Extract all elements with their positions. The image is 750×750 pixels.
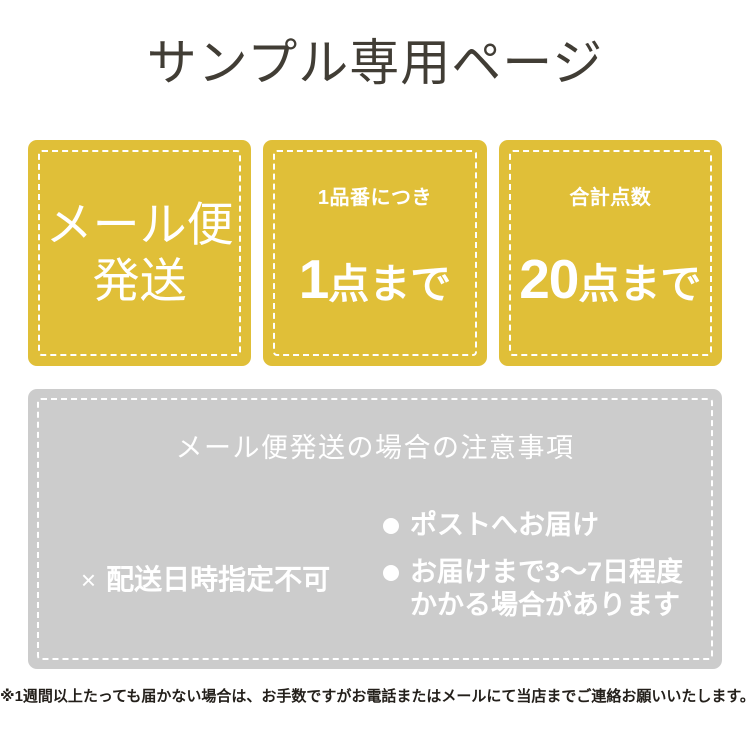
card-total-limit-content: 合計点数 20点まで [499,186,722,321]
card-total-limit-label: 合計点数 [499,186,722,210]
bullet-dot-icon [383,565,399,581]
card-mail-shipping-line1: メール便 [28,197,251,253]
no-delivery-date-note: ×配送日時指定不可 [81,563,330,597]
bullet-dot-icon [383,518,399,534]
card-total-limit: 合計点数 20点まで [499,140,722,366]
card-mail-shipping-content: メール便 発送 [28,197,251,309]
shipping-cards-row: メール便 発送 1品番につき 1点まで 合計点数 20点まで [28,140,722,366]
notice-bullet-0-line1: ポストへお届け [410,509,599,542]
notice-body: ×配送日時指定不可 ポストへお届け お届けまで3〜7日程度 かかる場合があります [28,505,722,655]
notice-bullet-1-line2: かかる場合があります [410,589,683,622]
footnote-text: ※1週間以上たっても届かない場合は、お手数ですがお電話またはメールにて当店までご… [0,686,750,708]
card-per-item-limit-value: 1点まで [263,252,486,321]
page-title: サンプル専用ページ [0,34,750,92]
cross-icon: × [81,565,96,595]
notice-heading: メール便発送の場合の注意事項 [28,431,722,465]
card-per-item-limit-content: 1品番につき 1点まで [263,186,486,321]
notice-left-column: ×配送日時指定不可 [28,505,383,655]
card-per-item-limit: 1品番につき 1点まで [263,140,486,366]
notice-bullet-1-line1: お届けまで3〜7日程度 [410,556,683,589]
card-mail-shipping-line2: 発送 [28,253,251,309]
sample-page: サンプル専用ページ メール便 発送 1品番につき 1点まで 合計点数 [0,0,750,750]
list-item: ポストへお届け [383,509,722,542]
card-total-limit-number: 20 [519,248,578,310]
card-per-item-limit-unit: 点まで [328,261,451,307]
no-delivery-date-label: 配送日時指定不可 [106,564,330,595]
notice-right-column: ポストへお届け お届けまで3〜7日程度 かかる場合があります [383,505,722,636]
card-per-item-limit-number: 1 [299,248,329,310]
notice-bullet-1-text: お届けまで3〜7日程度 かかる場合があります [410,556,683,622]
card-per-item-limit-label: 1品番につき [263,186,486,210]
list-item: お届けまで3〜7日程度 かかる場合があります [383,556,722,622]
card-total-limit-value: 20点まで [499,252,722,321]
card-total-limit-unit: 点まで [578,261,701,307]
card-mail-shipping: メール便 発送 [28,140,251,366]
notice-panel: メール便発送の場合の注意事項 ×配送日時指定不可 ポストへお届け お届けまで3〜… [28,389,722,669]
